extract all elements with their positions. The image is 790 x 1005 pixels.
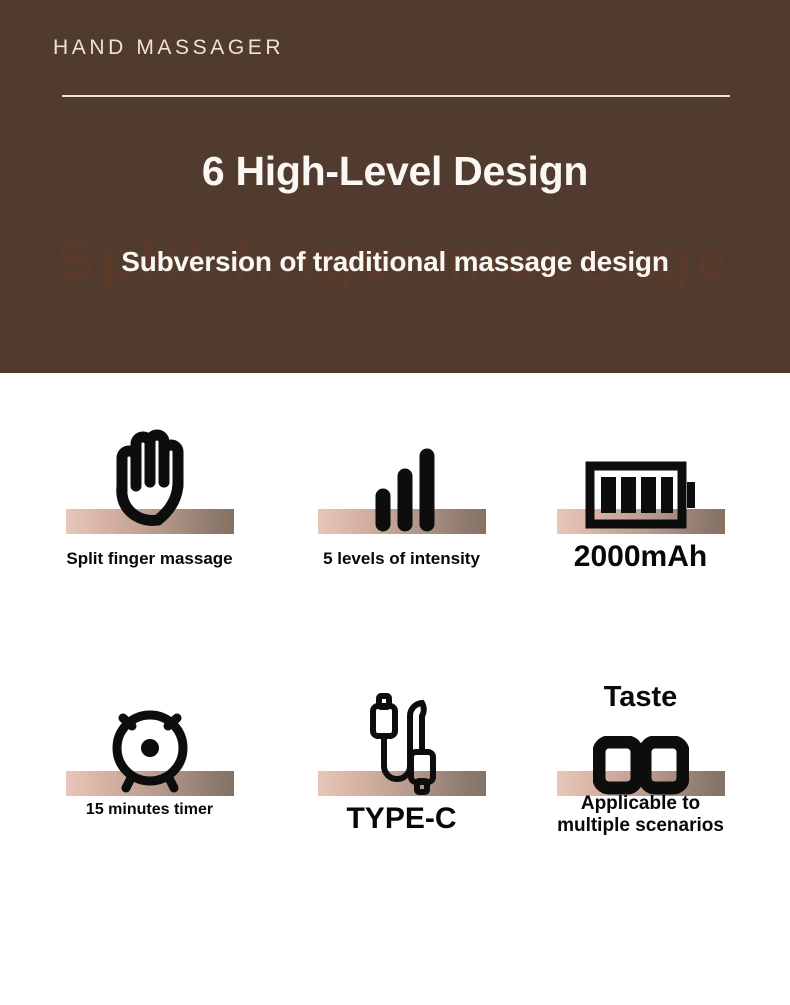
feature-caption: 5 levels of intensity — [275, 549, 528, 569]
feature-cell-multiple-scenarios: Taste Applicable to multiple scenarios — [514, 643, 767, 943]
feature-art — [275, 381, 528, 556]
caption-line-2: multiple scenarios — [557, 815, 724, 836]
feature-caption: TYPE-C — [275, 801, 528, 836]
hero-banner: HAND MASSAGER Split finger massage 6 Hig… — [0, 0, 790, 373]
feature-art — [514, 381, 767, 556]
feature-cell-type-c: TYPE-C — [275, 643, 528, 943]
feature-grid: Split finger massage 5 level — [0, 373, 790, 1005]
feature-art — [23, 643, 276, 818]
feature-caption: 15 minutes timer — [23, 801, 276, 820]
page-title: 6 High-Level Design — [0, 148, 790, 195]
hero-divider — [62, 95, 730, 97]
hand-icon — [23, 424, 276, 534]
feature-cell-timer: 15 minutes timer — [23, 643, 276, 943]
feature-cell-intensity-levels: 5 levels of intensity — [275, 381, 528, 681]
battery-icon — [514, 452, 767, 534]
feature-caption: Split finger massage — [23, 549, 276, 569]
feature-art — [23, 381, 276, 556]
feature-cell-split-finger-massage: Split finger massage — [23, 381, 276, 681]
feature-cell-battery-capacity: 2000mAh — [514, 381, 767, 681]
feature-art: Taste — [514, 643, 767, 818]
feature-caption: 2000mAh — [514, 539, 767, 574]
taste-label: Taste — [514, 681, 767, 714]
brand-eyebrow: HAND MASSAGER — [53, 36, 284, 60]
product-infographic: HAND MASSAGER Split finger massage 6 Hig… — [0, 0, 790, 1005]
feature-art — [275, 643, 528, 818]
alarm-clock-icon — [23, 696, 276, 796]
dual-squares-icon — [514, 736, 767, 796]
signal-bars-icon — [275, 442, 528, 534]
caption-line-1: Applicable to — [581, 793, 700, 814]
page-subtitle: Subversion of traditional massage design — [0, 246, 790, 278]
feature-caption: Applicable to multiple scenarios — [514, 793, 767, 838]
usb-cable-icon — [275, 690, 528, 796]
